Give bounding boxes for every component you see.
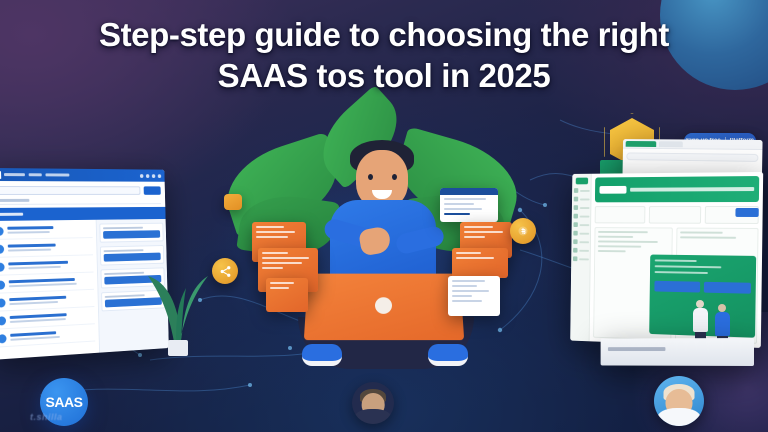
laptop — [304, 274, 464, 341]
plant-decoration — [142, 236, 212, 356]
sidebar-item-label — [579, 249, 589, 251]
row-subtitle — [10, 318, 66, 323]
sidebar-item-icon — [573, 231, 577, 236]
avatar — [0, 263, 5, 272]
sidebar-item[interactable] — [573, 188, 589, 193]
floating-orange-card[interactable] — [266, 278, 308, 312]
left-panel-list[interactable] — [0, 220, 100, 360]
app-logo-icon — [0, 170, 1, 178]
table-row[interactable] — [0, 257, 94, 276]
sidebar-item[interactable] — [573, 231, 589, 236]
row-subtitle — [9, 301, 58, 305]
floating-white-card[interactable] — [440, 188, 498, 222]
sidebar-item-icon — [573, 256, 577, 261]
sidebar-item-icon — [573, 214, 577, 219]
table-row[interactable] — [0, 326, 96, 348]
hero-graphic-canvas: Step-step guide to choosing the right SA… — [0, 0, 768, 432]
table-row[interactable] — [0, 223, 93, 240]
subheader-label — [0, 199, 29, 202]
row-title — [9, 296, 66, 301]
table-row[interactable] — [0, 240, 93, 258]
hero-label — [630, 187, 754, 192]
sidebar-item[interactable] — [573, 205, 589, 210]
person-eye-left — [368, 174, 373, 180]
browser-tab[interactable] — [626, 141, 657, 147]
coin-badge-right[interactable] — [510, 218, 536, 244]
search-button[interactable] — [144, 186, 161, 194]
person-eye-right — [392, 174, 397, 180]
hero-chip — [599, 186, 626, 194]
coin-icon — [517, 225, 529, 237]
nav-item[interactable] — [4, 173, 25, 176]
table-row[interactable] — [0, 274, 94, 293]
avatar — [0, 334, 7, 343]
right-panel-stats — [595, 206, 759, 224]
sidebar-item[interactable] — [573, 239, 589, 244]
side-card-title — [104, 249, 144, 252]
laptop-logo-icon — [375, 297, 392, 314]
row-subtitle — [8, 249, 51, 252]
row-title — [7, 226, 53, 230]
hero-title: Step-step guide to choosing the right SA… — [0, 14, 768, 96]
avatar-shoulders — [658, 408, 701, 426]
user-avatar-right[interactable] — [654, 376, 704, 426]
left-panel-topbar — [0, 168, 165, 182]
row-subtitle — [10, 336, 60, 341]
row-subtitle — [7, 231, 50, 234]
right-panel-hero-banner — [595, 176, 759, 202]
sidebar-item-label — [579, 241, 589, 243]
sidebar-item-label — [579, 232, 589, 234]
right-panel-base — [601, 338, 754, 366]
avatar — [0, 227, 4, 236]
left-panel-search-row[interactable] — [0, 181, 165, 197]
avatar — [0, 280, 5, 289]
browser-url-bar[interactable] — [626, 152, 758, 161]
right-dashboard-mockup[interactable] — [570, 172, 763, 348]
side-card-title — [103, 227, 143, 229]
right-app-logo-icon — [575, 178, 587, 185]
sidebar-item-label — [579, 207, 589, 209]
left-panel-subheader — [0, 197, 161, 205]
nav-item[interactable] — [29, 173, 42, 176]
sidebar-item-label — [579, 215, 589, 217]
bell-icon[interactable] — [140, 174, 144, 178]
avatar-icon[interactable] — [158, 174, 161, 178]
help-icon[interactable] — [146, 174, 149, 178]
left-panel-topbar-icons[interactable] — [140, 174, 161, 178]
sidebar-item[interactable] — [573, 256, 589, 261]
sidebar-item-icon — [573, 188, 577, 193]
floating-white-card[interactable] — [448, 276, 500, 316]
sidebar-item-icon — [573, 248, 577, 253]
sidebar-item[interactable] — [573, 214, 589, 219]
saas-logo-label: SAAS — [46, 394, 83, 410]
sidebar-item[interactable] — [573, 197, 589, 202]
sidebar-item-label — [579, 258, 589, 260]
watermark-text: t.shilla — [30, 412, 63, 422]
sidebar-item-label — [580, 189, 590, 191]
user-avatar-center[interactable] — [352, 382, 394, 424]
title-line-1: Step-step guide to choosing the right — [34, 14, 734, 55]
base-label — [608, 347, 665, 351]
nav-item[interactable] — [45, 173, 69, 176]
stat-card — [649, 206, 701, 224]
sidebar-item-icon — [573, 239, 577, 244]
row-subtitle — [9, 283, 77, 288]
sidebar-item-label — [579, 224, 589, 226]
avatar — [0, 298, 6, 307]
title-line-2: SAAS tos tool in 2025 — [34, 55, 734, 96]
tag-badge-left[interactable] — [224, 194, 242, 210]
sidebar-item[interactable] — [573, 248, 589, 253]
row-title — [8, 261, 68, 266]
side-card-title — [104, 272, 144, 275]
gear-icon[interactable] — [152, 174, 155, 178]
right-panel-blue-button[interactable] — [735, 208, 758, 217]
avatar — [0, 316, 6, 325]
share-icon — [219, 265, 232, 278]
floating-orange-card[interactable] — [452, 248, 508, 278]
avatar-shoulders — [355, 409, 391, 424]
sidebar-item-label — [579, 198, 589, 200]
row-title — [8, 244, 56, 248]
right-panel-sidebar[interactable] — [570, 174, 592, 342]
share-badge-left[interactable] — [212, 258, 238, 284]
left-panel-nav[interactable] — [4, 173, 137, 177]
sidebar-item-icon — [573, 222, 577, 227]
person-shoe-left — [302, 344, 342, 366]
search-input[interactable] — [0, 186, 140, 195]
sidebar-item[interactable] — [573, 222, 589, 227]
sidebar-item-icon — [573, 197, 577, 202]
browser-tabbar[interactable] — [623, 139, 763, 150]
green-card-button[interactable] — [654, 281, 700, 293]
person-shoe-right — [428, 344, 468, 366]
sidebar-item-icon — [573, 205, 577, 210]
stat-card — [595, 206, 646, 223]
row-subtitle — [8, 266, 60, 270]
green-card-buttons[interactable] — [654, 281, 751, 294]
browser-tab[interactable] — [659, 141, 683, 147]
avatar — [0, 245, 4, 254]
green-card-button[interactable] — [704, 282, 751, 294]
